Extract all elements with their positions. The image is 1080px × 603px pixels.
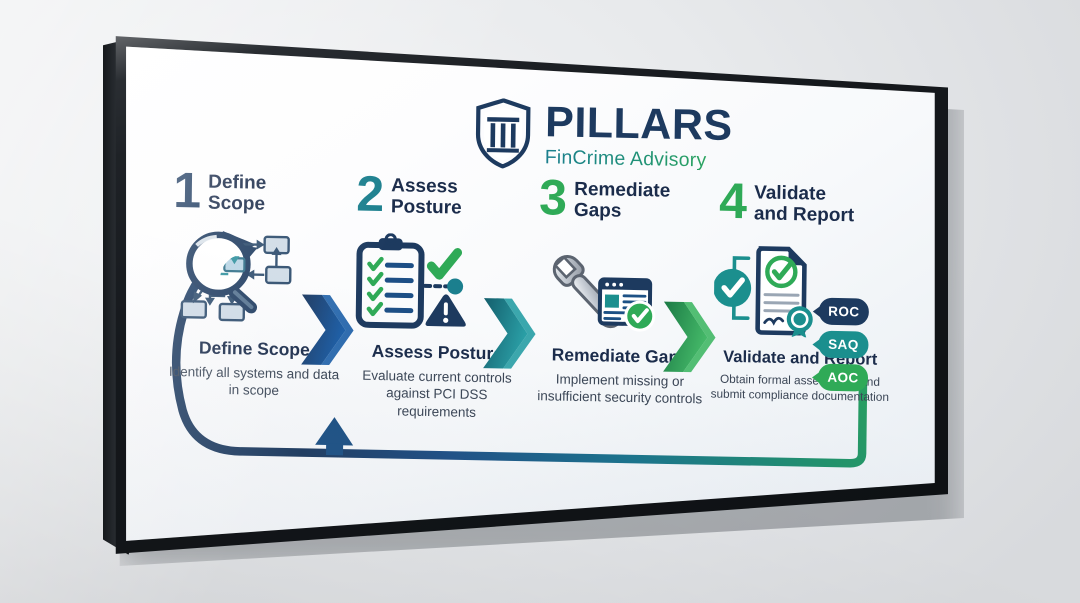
- badge-aoc-label: AOC: [827, 370, 858, 386]
- step-4-heading: 4 Validate and Report: [711, 178, 894, 244]
- step-1-head-line1: Define: [208, 173, 266, 195]
- wall-mounted-display: PILLARS FinCrime Advisory 1 Define Scope: [112, 33, 948, 557]
- badge-saq-label: SAQ: [828, 337, 859, 353]
- magnifier-over-flowchart-icon: [168, 229, 295, 327]
- step-3-number: 3: [539, 174, 566, 221]
- shield-pillar-icon: [474, 98, 533, 169]
- step-4-head-line1: Validate: [754, 183, 855, 205]
- brand-title: PILLARS: [545, 101, 733, 148]
- badge-roc-label: ROC: [828, 304, 859, 320]
- step-4-head-label: Validate and Report: [754, 178, 855, 226]
- step-2-head-label: Assess Posture: [391, 171, 462, 218]
- clipboard-checklist-warning-icon: [351, 232, 478, 330]
- step-1-description: Identify all systems and data in scope: [163, 363, 345, 401]
- step-3-head-line2: Gaps: [574, 200, 670, 222]
- report-type-badges: ROC SAQ AOC: [818, 298, 869, 392]
- step-2-description: Evaluate current controls against PCI DS…: [345, 366, 528, 421]
- step-3-description: Implement missing or insufficient securi…: [529, 370, 711, 408]
- slide-content: PILLARS FinCrime Advisory 1 Define Scope: [122, 41, 938, 549]
- wrench-and-window-check-icon: [534, 236, 661, 334]
- step-2-heading: 2 Assess Posture: [348, 170, 531, 236]
- step-1-head-label: Define Scope: [208, 168, 267, 215]
- badge-saq: SAQ: [818, 331, 868, 359]
- step-1-head-line2: Scope: [208, 193, 266, 215]
- step-2-head-line2: Posture: [391, 197, 462, 219]
- step-3-head-line1: Remediate: [574, 180, 670, 202]
- step-4-head-line2: and Report: [754, 204, 855, 226]
- certificate-seal-check-icon: [714, 240, 835, 338]
- step-3-heading: 3 Remediate Gaps: [531, 174, 714, 240]
- step-2-number: 2: [356, 171, 383, 218]
- badge-aoc: AOC: [818, 364, 868, 392]
- step-1-number: 1: [173, 167, 200, 214]
- step-2-head-line1: Assess: [391, 176, 462, 198]
- badge-roc: ROC: [819, 298, 869, 326]
- step-1-heading: 1 Define Scope: [165, 167, 348, 233]
- display-bezel: PILLARS FinCrime Advisory 1 Define Scope: [112, 33, 948, 557]
- step-3-head-label: Remediate Gaps: [574, 175, 671, 223]
- step-4-number: 4: [719, 178, 746, 225]
- chevron-step1-to-step2: [299, 292, 360, 367]
- brand-logo: PILLARS FinCrime Advisory: [474, 98, 733, 173]
- display-screen: PILLARS FinCrime Advisory 1 Define Scope: [122, 41, 938, 549]
- screenshot-root: PILLARS FinCrime Advisory 1 Define Scope: [0, 0, 1080, 603]
- chevron-step2-to-step3: [481, 296, 542, 371]
- brand-subtitle: FinCrime Advisory: [545, 148, 733, 171]
- chevron-step3-to-step4: [661, 300, 722, 375]
